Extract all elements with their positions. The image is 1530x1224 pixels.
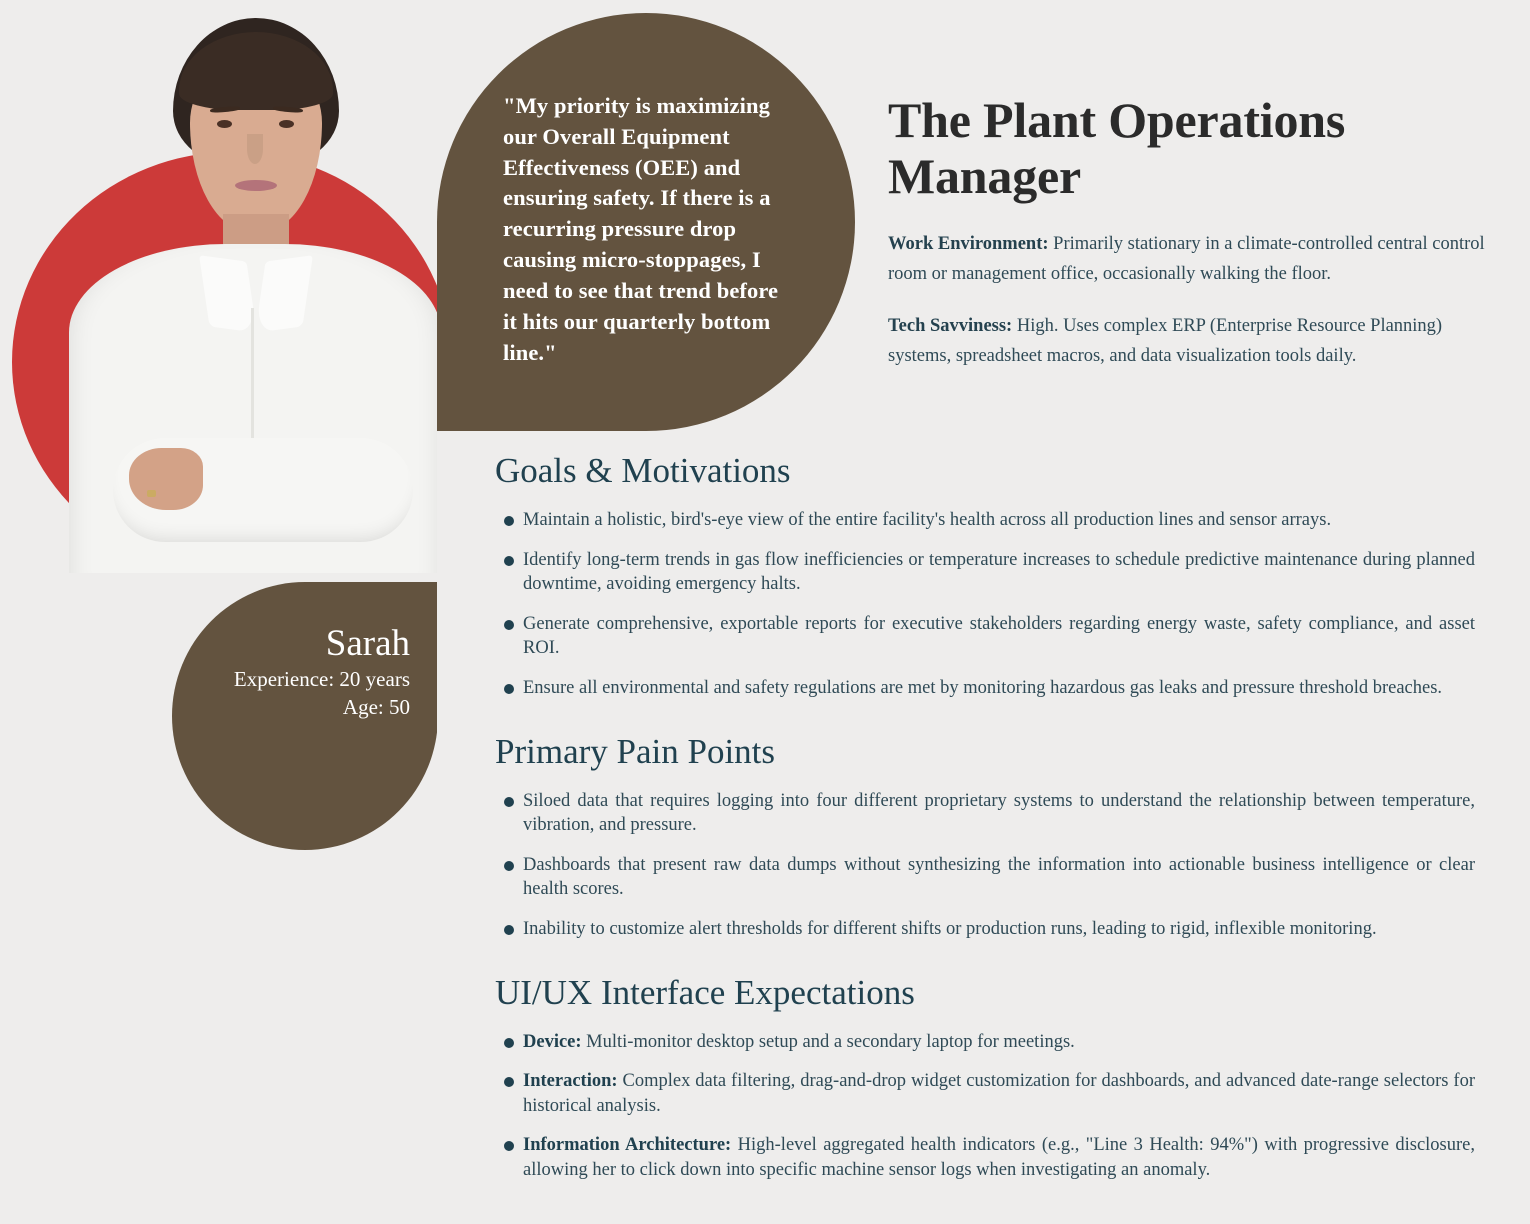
section-title-pain-points: Primary Pain Points (495, 731, 1495, 773)
persona-name: Sarah (172, 624, 410, 665)
list-item-text: Complex data filtering, drag-and-drop wi… (523, 1071, 1475, 1116)
page-title: The Plant Operations Manager (888, 92, 1492, 204)
list-item: Maintain a holistic, bird's-eye view of … (495, 508, 1475, 533)
work-environment-paragraph: Work Environment: Primarily stationary i… (888, 230, 1492, 290)
section-title-goals: Goals & Motivations (495, 450, 1495, 492)
pain-points-list: Siloed data that requires logging into f… (490, 789, 1475, 942)
list-item-text: Multi-monitor desktop setup and a second… (582, 1032, 1075, 1052)
portrait-mouth (235, 180, 277, 191)
uiux-expectations-list: Device: Multi-monitor desktop setup and … (490, 1030, 1475, 1183)
list-item-label: Device: (523, 1032, 582, 1052)
section-title-uiux: UI/UX Interface Expectations (495, 972, 1495, 1014)
persona-left-column: Sarah Experience: 20 years Age: 50 (0, 0, 437, 1224)
goals-list: Maintain a holistic, bird's-eye view of … (495, 508, 1475, 701)
persona-quote-bubble: "My priority is maximizing our Overall E… (437, 13, 855, 431)
list-item-label: Interaction: (523, 1071, 618, 1091)
portrait-nose (247, 134, 263, 164)
list-item: Information Architecture: High-level agg… (490, 1133, 1475, 1182)
persona-identity-blob: Sarah Experience: 20 years Age: 50 (172, 582, 437, 850)
work-environment-label: Work Environment: (888, 234, 1049, 254)
portrait-eye-right (279, 120, 294, 128)
list-item-label: Information Architecture: (523, 1135, 731, 1155)
tech-savviness-paragraph: Tech Savviness: High. Uses complex ERP (… (888, 312, 1492, 372)
portrait-eye-left (217, 120, 232, 128)
list-item: Device: Multi-monitor desktop setup and … (490, 1030, 1475, 1055)
persona-age: Age: 50 (172, 693, 410, 721)
list-item: Interaction: Complex data filtering, dra… (490, 1069, 1475, 1118)
list-item: Generate comprehensive, exportable repor… (495, 612, 1475, 661)
portrait-hand (129, 448, 203, 510)
list-item: Siloed data that requires logging into f… (490, 789, 1475, 838)
portrait-ring (147, 490, 156, 497)
list-item: Ensure all environmental and safety regu… (495, 676, 1475, 701)
persona-quote-text: "My priority is maximizing our Overall E… (503, 93, 778, 365)
tech-savviness-label: Tech Savviness: (888, 316, 1012, 336)
persona-header-column: The Plant Operations Manager Work Enviro… (888, 92, 1492, 394)
list-item: Inability to customize alert thresholds … (490, 917, 1475, 942)
list-item: Dashboards that present raw data dumps w… (490, 853, 1475, 902)
persona-sections: Goals & Motivations Maintain a holistic,… (495, 450, 1495, 1213)
list-item: Identify long-term trends in gas flow in… (495, 548, 1475, 597)
persona-portrait-photo (55, 8, 437, 573)
persona-experience: Experience: 20 years (172, 665, 410, 693)
